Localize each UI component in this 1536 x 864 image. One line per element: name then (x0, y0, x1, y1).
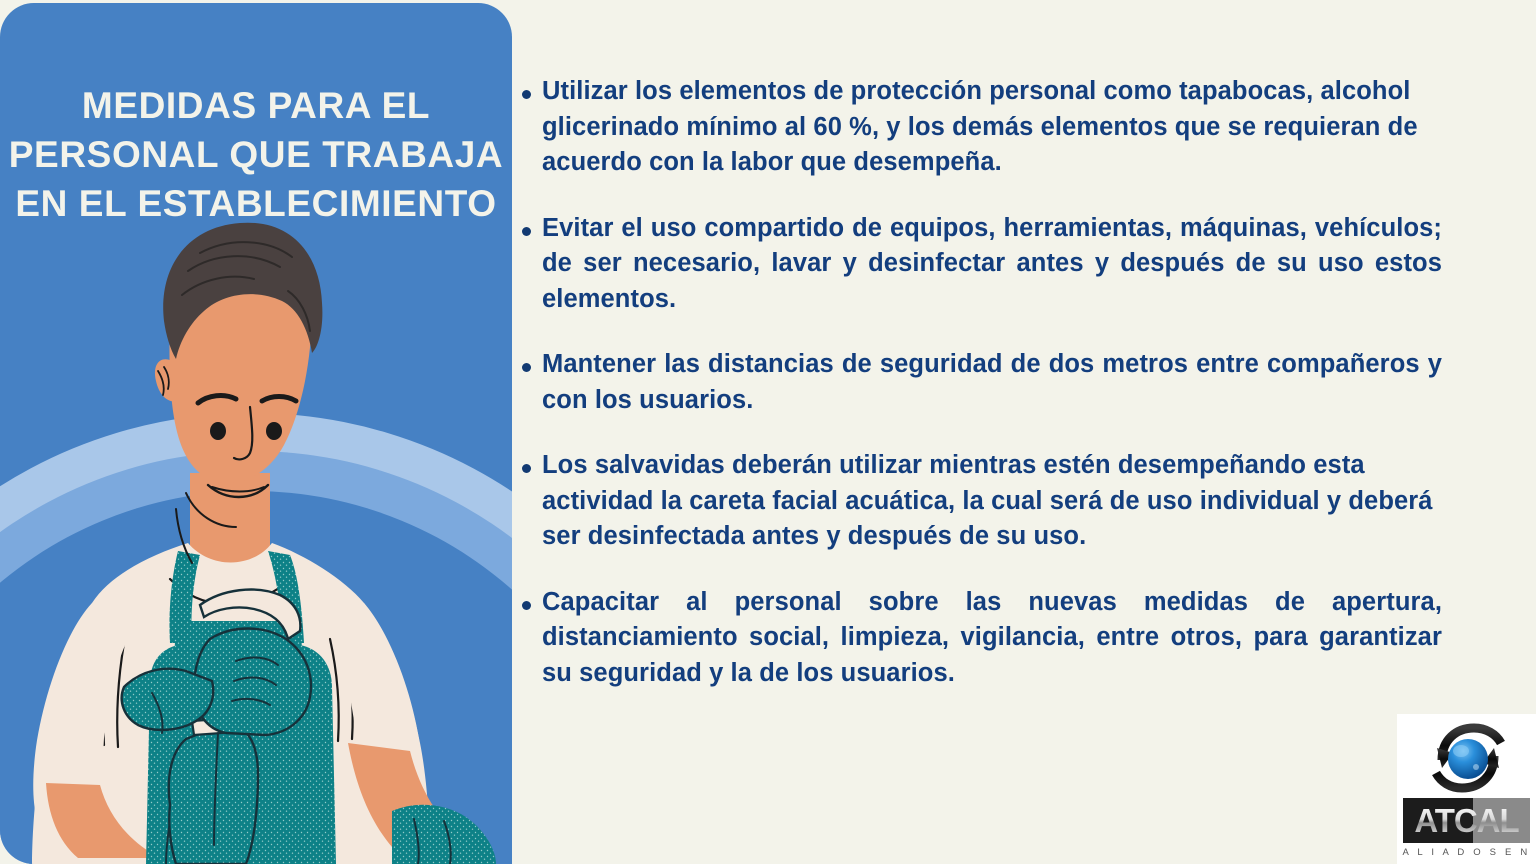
atcal-logo: ATCAL A L I A D O S E N (1397, 714, 1536, 864)
bullet-text-3: Mantener las distancias de seguridad de … (542, 347, 1442, 418)
list-item: Los salvavidas deberán utilizar mientras… (522, 448, 1442, 555)
bullet-dot-icon (522, 363, 531, 372)
bullet-text-2: Evitar el uso compartido de equipos, her… (542, 211, 1442, 318)
bullet-dot-icon (522, 227, 531, 236)
title-line-2: PERSONAL QUE TRABAJA (8, 130, 504, 179)
title-line-3: EN EL ESTABLECIMIENTO (8, 179, 504, 228)
list-item: Utilizar los elementos de protección per… (522, 74, 1442, 181)
bullet-list: Utilizar los elementos de protección per… (522, 74, 1442, 691)
bullet-text-5: Capacitar al personal sobre las nuevas m… (542, 585, 1442, 692)
panel-title: MEDIDAS PARA EL PERSONAL QUE TRABAJA EN … (0, 81, 512, 228)
bullet-dot-icon (522, 90, 531, 99)
bullet-text-4: Los salvavidas deberán utilizar mientras… (542, 448, 1442, 555)
bullet-dot-icon (522, 601, 531, 610)
logo-wordmark-text: ATCAL (1414, 803, 1518, 839)
bullet-dot-icon (522, 464, 531, 473)
list-item: Mantener las distancias de seguridad de … (522, 347, 1442, 418)
list-item: Evitar el uso compartido de equipos, her… (522, 211, 1442, 318)
left-blue-panel: MEDIDAS PARA EL PERSONAL QUE TRABAJA EN … (0, 3, 512, 864)
bullet-text-1: Utilizar los elementos de protección per… (542, 74, 1442, 181)
logo-tagline: A L I A D O S E N (1397, 847, 1536, 858)
logo-wordmark: ATCAL (1403, 798, 1530, 843)
slide-root: MEDIDAS PARA EL PERSONAL QUE TRABAJA EN … (0, 0, 1536, 864)
list-item: Capacitar al personal sobre las nuevas m… (522, 585, 1442, 692)
circular-arrows-sphere-icon (1420, 720, 1514, 796)
title-line-1: MEDIDAS PARA EL (8, 81, 504, 130)
